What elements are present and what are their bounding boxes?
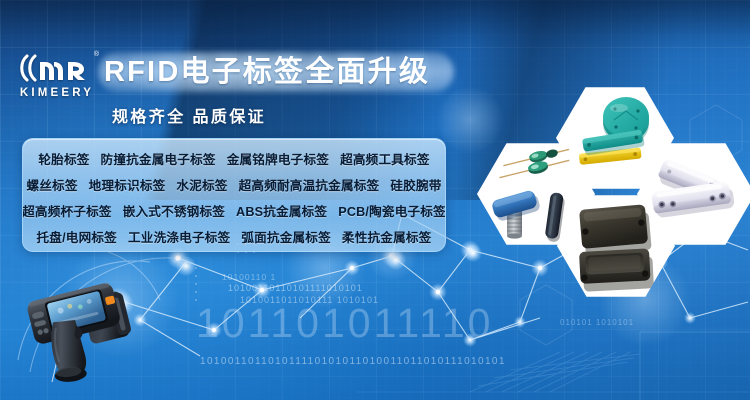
product-list-item[interactable]: 超高频耐高温抗金属标签: [239, 175, 380, 194]
product-list-item[interactable]: 轮胎标签: [38, 149, 89, 168]
brand-logo: ® KIMEERY: [14, 52, 100, 106]
product-list-item[interactable]: 水泥标签: [176, 175, 227, 194]
product-list-item[interactable]: 超高频工具标签: [340, 149, 430, 168]
kimeery-logo-icon: ®: [14, 52, 100, 84]
product-list-item[interactable]: 弧面抗金属标签: [241, 227, 331, 246]
product-list-item[interactable]: 地理标识标签: [89, 175, 166, 194]
product-list-item[interactable]: 螺丝标签: [26, 175, 77, 194]
product-list-row: 超高频杯子标签 嵌入式不锈钢标签 ABS抗金属标签 PCB/陶瓷电子标签: [23, 197, 445, 223]
product-list-item[interactable]: 工业洗涤电子标签: [128, 227, 230, 246]
product-list-row: 螺丝标签 地理标识标签 水泥标签 超高频耐高温抗金属标签 硅胶腕带: [23, 171, 445, 197]
logo-wordmark: KIMEERY: [14, 87, 100, 99]
rfid-promo-banner: 101101011110 10100110110101111010101 101…: [0, 0, 750, 400]
product-list-item[interactable]: 嵌入式不锈钢标签: [123, 201, 225, 220]
product-list-item[interactable]: ABS抗金属标签: [236, 201, 327, 220]
product-list-item[interactable]: 硅胶腕带: [390, 175, 441, 194]
registered-trademark-icon: ®: [94, 51, 99, 58]
headline-container: RFID电子标签全面升级: [104, 50, 454, 94]
product-list-item[interactable]: PCB/陶瓷电子标签: [338, 201, 446, 220]
handheld-rfid-reader[interactable]: [22, 268, 150, 386]
handheld-rfid-reader-image: [22, 268, 150, 386]
product-list-item[interactable]: 防撞抗金属电子标签: [101, 149, 216, 168]
product-list-row: 轮胎标签 防撞抗金属电子标签 金属铭牌电子标签 超高频工具标签: [23, 145, 445, 171]
product-list-row: 托盘/电网标签 工业洗涤电子标签 弧面抗金属标签 柔性抗金属标签: [23, 223, 445, 249]
product-list-item[interactable]: 柔性抗金属标签: [342, 227, 432, 246]
product-list-item[interactable]: 托盘/电网标签: [37, 227, 117, 246]
headline-text: RFID电子标签全面升级: [104, 50, 454, 94]
product-list-item[interactable]: 金属铭牌电子标签: [227, 149, 329, 168]
product-list-item[interactable]: 超高频杯子标签: [22, 201, 112, 220]
product-list-panel: 轮胎标签 防撞抗金属电子标签 金属铭牌电子标签 超高频工具标签 螺丝标签 地理标…: [22, 138, 446, 252]
subtitle-text: 规格齐全 品质保证: [112, 103, 266, 127]
